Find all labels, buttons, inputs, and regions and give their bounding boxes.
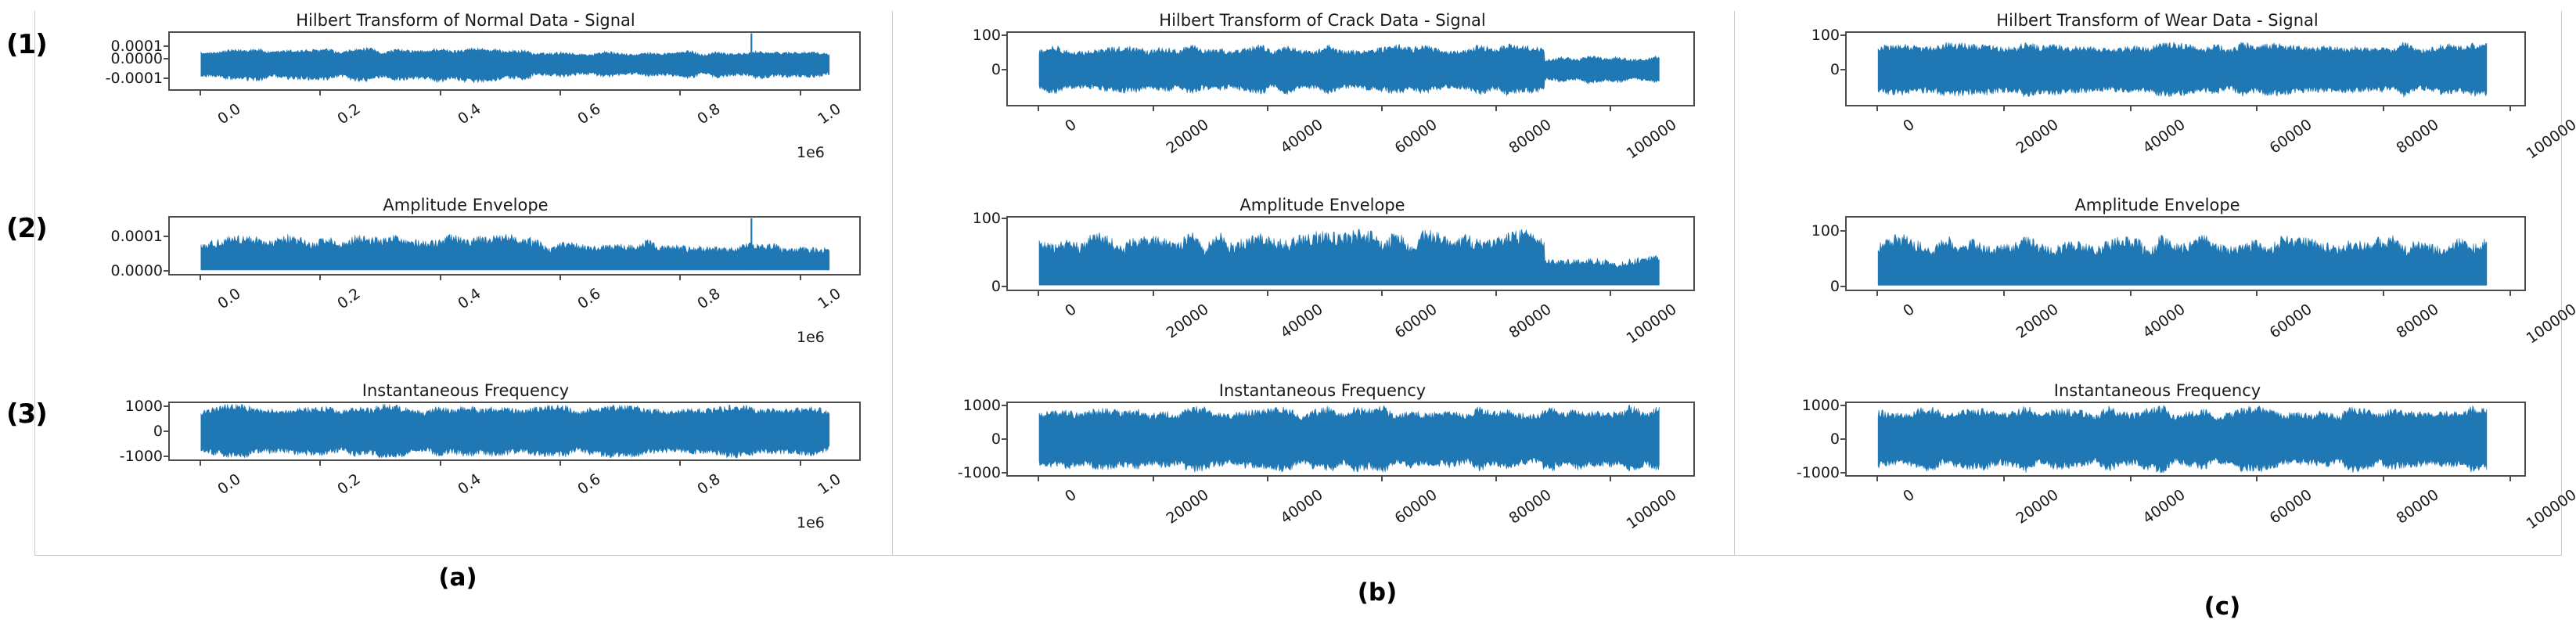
y-tick-label: -1000: [120, 448, 163, 465]
plot-cell-c2: Amplitude Envelope 100 0 0 20000 40000 6…: [1762, 196, 2553, 282]
plot-cell-b3: Instantaneous Frequency 1000 0 -1000 0 2…: [923, 381, 1722, 467]
row-tag-3: (3): [6, 401, 47, 427]
plot-title: Amplitude Envelope: [1762, 196, 2553, 214]
x-axis-exponent: 1e6: [797, 144, 825, 161]
x-axis-ticks: 0 20000 40000 60000 80000 100000: [1845, 402, 2526, 477]
y-tick-label: 0.0001: [111, 228, 163, 245]
column-caption-a: (a): [411, 566, 505, 590]
x-axis-ticks: 0 20000 40000 60000 80000 100000: [1845, 31, 2526, 106]
plot-title: Instantaneous Frequency: [923, 381, 1722, 400]
x-axis-exponent: 1e6: [797, 514, 825, 531]
x-axis-exponent: 1e6: [797, 329, 825, 346]
y-tick-label: 100: [1811, 222, 1840, 240]
y-tick-label: 0: [153, 423, 163, 440]
hilbert-transform-figure: (1) (2) (3) Hilbert Transform of Normal …: [0, 0, 2576, 634]
plot-title: Instantaneous Frequency: [1762, 381, 2553, 400]
row-tag-1: (1): [6, 31, 47, 58]
row-tag-2: (2): [6, 215, 47, 242]
y-tick-label: 0: [991, 430, 1001, 448]
x-axis-ticks: 0 20000 40000 60000 80000 100000: [1006, 31, 1695, 106]
plot-title: Amplitude Envelope: [63, 196, 869, 214]
y-tick-label: 1000: [1802, 397, 1840, 414]
y-tick-label: 0: [991, 278, 1001, 295]
plot-cell-a2: Amplitude Envelope 0.0001 0.0000 0.0 0.2…: [63, 196, 869, 282]
x-axis-ticks: 0 20000 40000 60000 80000 100000: [1006, 216, 1695, 291]
plot-cell-a3: Instantaneous Frequency 1000 0 -1000 0.0…: [63, 381, 869, 467]
y-tick-label: 0: [991, 61, 1001, 78]
plot-cell-c3: Instantaneous Frequency 1000 0 -1000 0 2…: [1762, 381, 2553, 467]
column-caption-b: (b): [1330, 581, 1424, 605]
y-tick-label: 100: [973, 27, 1001, 44]
y-tick-label: 0: [1830, 61, 1840, 78]
y-tick-label: 0: [1830, 430, 1840, 448]
y-tick-label: -1000: [958, 464, 1001, 481]
y-tick-label: 100: [1811, 27, 1840, 44]
x-axis-ticks: 0.0 0.2 0.4 0.6 0.8 1.0: [168, 216, 861, 276]
y-tick-label: 0.0000: [111, 262, 163, 279]
x-axis-ticks: 0 20000 40000 60000 80000 100000: [1006, 402, 1695, 477]
column-caption-c: (c): [2175, 595, 2269, 619]
y-tick-label: -1000: [1797, 464, 1840, 481]
y-tick-label: 100: [973, 210, 1001, 227]
plot-title: Hilbert Transform of Wear Data - Signal: [1762, 11, 2553, 30]
y-tick-label: 1000: [125, 398, 163, 415]
x-axis-ticks: 0 20000 40000 60000 80000 100000: [1845, 216, 2526, 291]
plot-cell-a1: Hilbert Transform of Normal Data - Signa…: [63, 11, 869, 97]
plot-title: Amplitude Envelope: [923, 196, 1722, 214]
plot-cell-b1: Hilbert Transform of Crack Data - Signal…: [923, 11, 1722, 97]
plot-title: Instantaneous Frequency: [63, 381, 869, 400]
x-axis-ticks: 0.0 0.2 0.4 0.6 0.8 1.0: [168, 402, 861, 461]
plot-title: Hilbert Transform of Normal Data - Signa…: [63, 11, 869, 30]
plot-title: Hilbert Transform of Crack Data - Signal: [923, 11, 1722, 30]
plot-cell-c1: Hilbert Transform of Wear Data - Signal …: [1762, 11, 2553, 97]
y-tick-label: 0.0000: [111, 50, 163, 67]
y-tick-label: 0: [1830, 278, 1840, 295]
plot-cell-b2: Amplitude Envelope 100 0 0 20000 40000 6…: [923, 196, 1722, 282]
y-tick-label: 1000: [963, 397, 1001, 414]
y-tick-label: -0.0001: [106, 70, 163, 87]
x-axis-ticks: 0.0 0.2 0.4 0.6 0.8 1.0: [168, 31, 861, 91]
